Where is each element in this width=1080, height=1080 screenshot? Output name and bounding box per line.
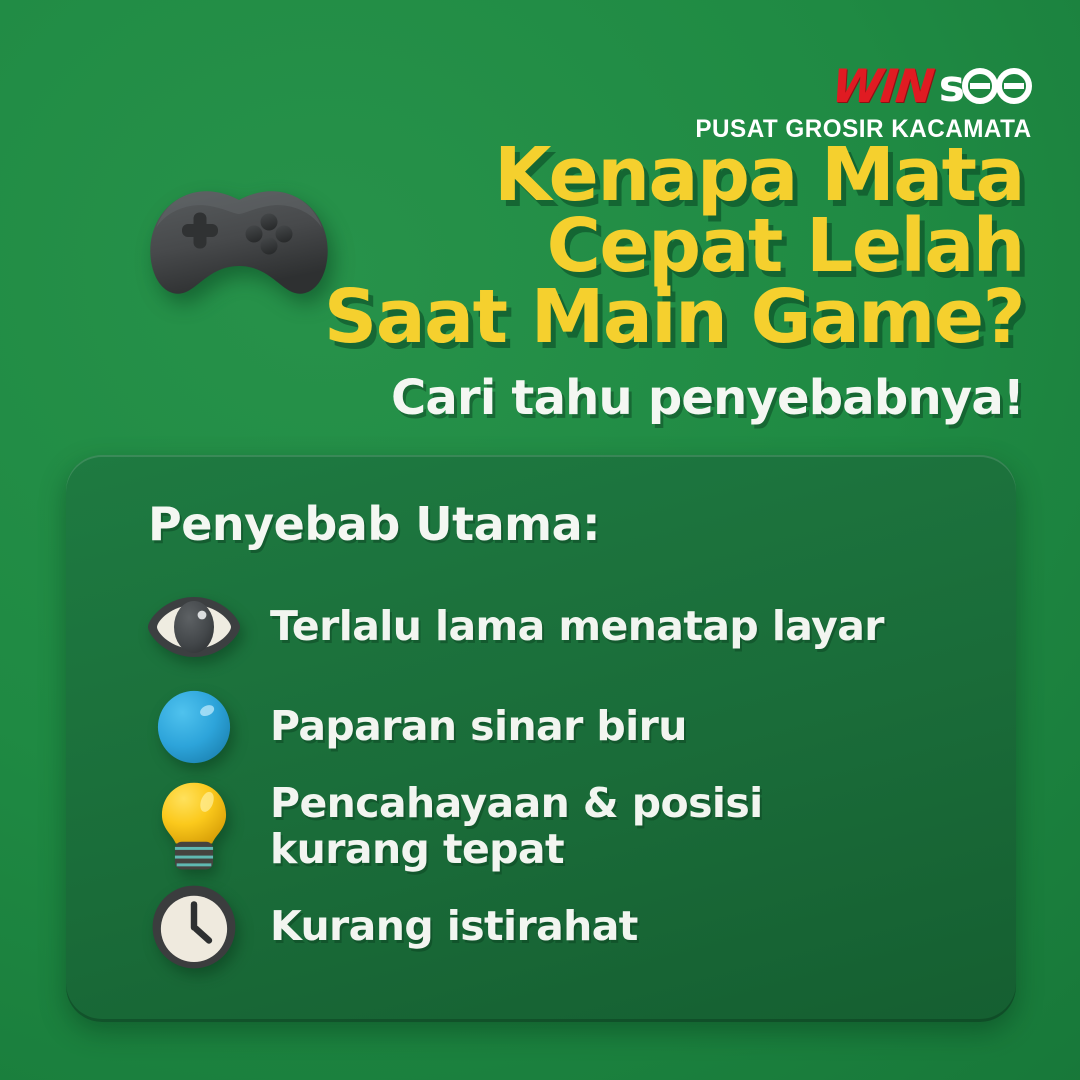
list-item: Pencahayaan & posisi kurang tepat [144,777,976,877]
poster-canvas: WIN s PUSAT GROSIR KACAMATA [0,0,1080,1080]
eye-icon [144,577,244,677]
cause-list: Terlalu lama menatap layar [144,577,976,977]
eye-circle-icon [962,68,998,104]
list-item-label: Pencahayaan & posisi kurang tepat [270,781,763,873]
list-item-label: Terlalu lama menatap layar [270,604,884,650]
list-item-label: Paparan sinar biru [270,704,687,750]
headline-line-3: Saat Main Game? [200,282,1024,353]
clock-icon [144,877,244,977]
list-item: Kurang istirahat [144,877,976,977]
list-item: Terlalu lama menatap layar [144,577,976,677]
list-item-label-line2: kurang tepat [270,827,763,873]
logo-wordmark: WIN s [685,62,1032,110]
brand-logo: WIN s PUSAT GROSIR KACAMATA [685,62,1032,142]
blue-sphere-icon [144,677,244,777]
lightbulb-icon [144,777,244,877]
headline-line-1: Kenapa Mata [200,140,1024,211]
list-item-label: Kurang istirahat [270,904,638,950]
headline-line-2: Cepat Lelah [200,211,1024,282]
list-item: Paparan sinar biru [144,677,976,777]
list-item-label-line1: Pencahayaan & posisi [270,781,763,827]
logo-see-text: s [939,64,1032,108]
eye-circle-icon-2 [996,68,1032,104]
headline-subtitle: Cari tahu penyebabnya! [391,370,1024,426]
card-title: Penyebab Utama: [148,497,600,551]
causes-card: Penyebab Utama: [66,455,1016,1022]
logo-letter-s: s [939,65,964,109]
headline: Kenapa Mata Cepat Lelah Saat Main Game? [200,140,1024,353]
logo-win-text: WIN [830,63,935,109]
